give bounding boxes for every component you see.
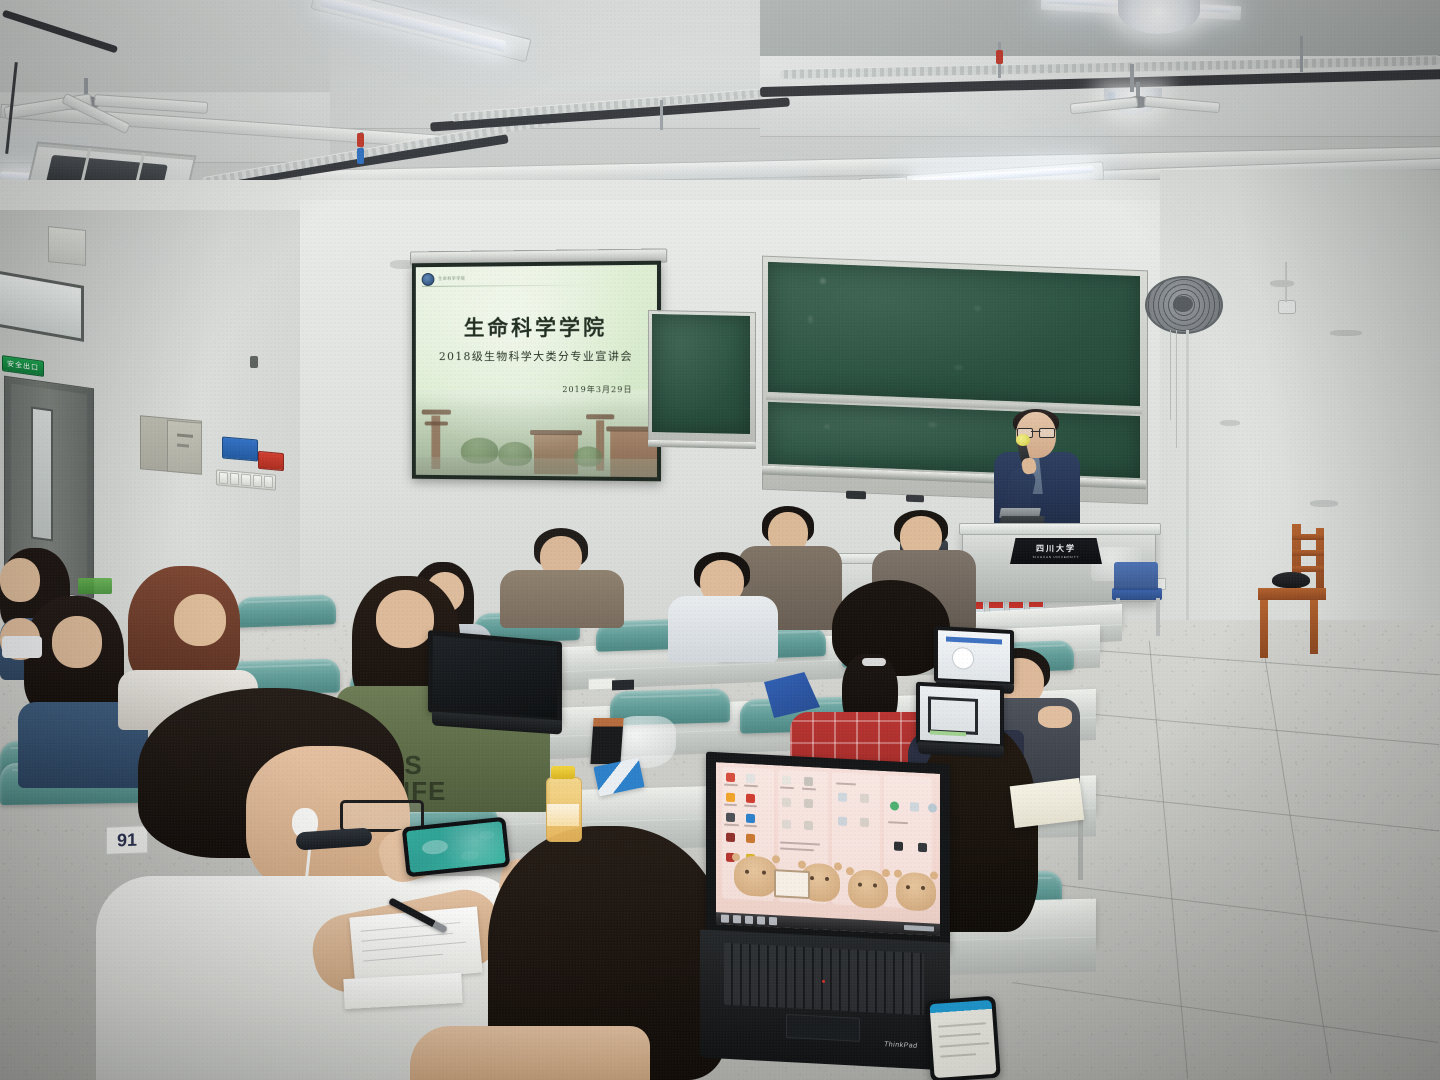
- black-baseball-cap: [1272, 572, 1310, 588]
- blue-notice-plate: [222, 436, 258, 461]
- lectern-university-name-cn: 四川大学: [1036, 543, 1076, 554]
- conduit-hanger: [1300, 36, 1303, 72]
- taskbar-app-icon[interactable]: [769, 917, 777, 925]
- chalkboard-eraser[interactable]: [846, 491, 866, 500]
- lectern-university-name-en: SICHUAN UNIVERSITY: [1033, 555, 1080, 559]
- red-warning-plate: [258, 451, 284, 471]
- audience-member: [0, 618, 70, 718]
- wooden-chair: [1254, 524, 1346, 660]
- wall-notice-plate: [48, 226, 86, 266]
- light-switch[interactable]: [264, 476, 273, 489]
- eraser-on-desk: [612, 680, 634, 691]
- desktop-icon[interactable]: [894, 841, 903, 850]
- desktop-icon[interactable]: [804, 821, 813, 830]
- cartoon-bear: [734, 855, 778, 897]
- taskbar-start-icon[interactable]: [721, 914, 729, 922]
- door-glass-panel: [31, 406, 53, 541]
- ceiling-mounted-sensor: [1278, 300, 1296, 314]
- desktop-icon[interactable]: [726, 773, 735, 782]
- desk-leg: [1078, 820, 1083, 880]
- desktop-icon[interactable]: [746, 814, 755, 823]
- desktop-icon[interactable]: [910, 802, 919, 811]
- wall-hook: [250, 356, 258, 368]
- desktop-icon[interactable]: [838, 817, 847, 826]
- desktop-icon[interactable]: [746, 774, 755, 783]
- desktop-icon[interactable]: [838, 793, 847, 802]
- slide-title: 生命科学学院: [416, 311, 657, 342]
- lecture-hall-photograph: 安全出口: [0, 0, 1440, 1080]
- light-switch[interactable]: [253, 475, 262, 488]
- laptop-lid: [706, 752, 950, 953]
- phone-game-screen[interactable]: [406, 821, 506, 873]
- laptop-screen[interactable]: [716, 762, 940, 936]
- laptop-mid[interactable]: [428, 636, 562, 740]
- desktop-icon[interactable]: [726, 833, 735, 842]
- green-basket: [78, 578, 112, 594]
- microphone-head-icon: [1016, 434, 1030, 446]
- chalkboard-upper: [768, 262, 1140, 406]
- university-emblem-icon: [422, 272, 435, 285]
- fan-pull-cord[interactable]: [1176, 330, 1177, 448]
- desktop-icon[interactable]: [726, 793, 735, 802]
- drink-bottle: [546, 766, 580, 840]
- wall-mounted-fan[interactable]: [1145, 276, 1223, 334]
- hand: [1038, 706, 1072, 728]
- slide-date: 2019年3月29日: [562, 384, 632, 395]
- laptop-right-lower[interactable]: [916, 684, 1004, 764]
- fan-pull-cord[interactable]: [1170, 330, 1171, 420]
- laptop-keyboard[interactable]: [724, 943, 924, 1015]
- desktop-icon[interactable]: [928, 803, 937, 812]
- sensor-rod: [1285, 262, 1287, 302]
- phone-screen[interactable]: [929, 1000, 996, 1078]
- taskbar-app-icon[interactable]: [745, 916, 753, 924]
- ceiling-fan-left: [20, 78, 210, 136]
- desktop-icon[interactable]: [918, 843, 927, 852]
- laptop-base: ThinkPad: [700, 929, 950, 1070]
- desktop-icon[interactable]: [746, 834, 755, 843]
- desktop-icon[interactable]: [746, 794, 755, 803]
- thinkpad-logo: ThinkPad: [884, 1041, 918, 1050]
- chalkboard-eraser[interactable]: [906, 495, 924, 503]
- slide-subtitle: 2018级生物科学大类分专业宣讲会: [416, 348, 657, 364]
- lectern-nameplate: 四川大学 SICHUAN UNIVERSITY: [1010, 538, 1102, 564]
- shoulder: [410, 1026, 650, 1080]
- face-mask: [2, 636, 42, 658]
- desktop-icon[interactable]: [782, 798, 791, 807]
- chalkboard-side-panel: [652, 314, 750, 434]
- wall-conduit-pipe: [1186, 330, 1189, 630]
- cartoon-bear: [848, 869, 888, 909]
- laptop-trackpad[interactable]: [786, 1014, 860, 1042]
- desktop-icon[interactable]: [860, 794, 869, 803]
- desktop-icon[interactable]: [726, 813, 735, 822]
- audience-member-foreground: [96, 688, 516, 1080]
- smartphone-on-desk[interactable]: [925, 996, 1001, 1080]
- cartoon-bear: [896, 872, 936, 912]
- desktop-icon[interactable]: [804, 799, 813, 808]
- light-switch[interactable]: [241, 474, 250, 487]
- desktop-icon[interactable]: [782, 776, 791, 785]
- ceiling-fan-right: [1078, 82, 1218, 132]
- presentation-slide: 生命科学学院 生命科学学院 2018级生物科学大类分专业宣讲会 2019年3月2…: [416, 265, 657, 477]
- bear-sign: [774, 869, 810, 899]
- handout-paper: [343, 973, 462, 1009]
- desktop-icon[interactable]: [782, 820, 791, 829]
- notebook: [1010, 778, 1085, 828]
- cable-clip: [357, 133, 364, 147]
- taskbar-search-icon[interactable]: [733, 915, 741, 923]
- light-switch[interactable]: [230, 473, 239, 486]
- slide-org-text: 生命科学学院: [438, 276, 465, 282]
- cable-clip: [357, 148, 364, 164]
- snack-box: [590, 718, 623, 764]
- cable-clip: [996, 50, 1003, 64]
- light-switch[interactable]: [219, 472, 228, 485]
- laptop-foreground[interactable]: ThinkPad: [700, 758, 950, 1080]
- desktop-icon[interactable]: [804, 777, 813, 786]
- hair-tie: [862, 658, 886, 666]
- desktop-icon[interactable]: [890, 801, 899, 810]
- trackpoint-icon[interactable]: [822, 980, 825, 983]
- conduit-hanger: [660, 100, 663, 130]
- audience-member: [668, 552, 778, 660]
- electrical-distribution-box[interactable]: [140, 415, 202, 474]
- desktop-icon[interactable]: [860, 818, 869, 827]
- taskbar-app-icon[interactable]: [757, 916, 765, 924]
- projection-screen: 生命科学学院 生命科学学院 2018级生物科学大类分专业宣讲会 2019年3月2…: [412, 261, 661, 482]
